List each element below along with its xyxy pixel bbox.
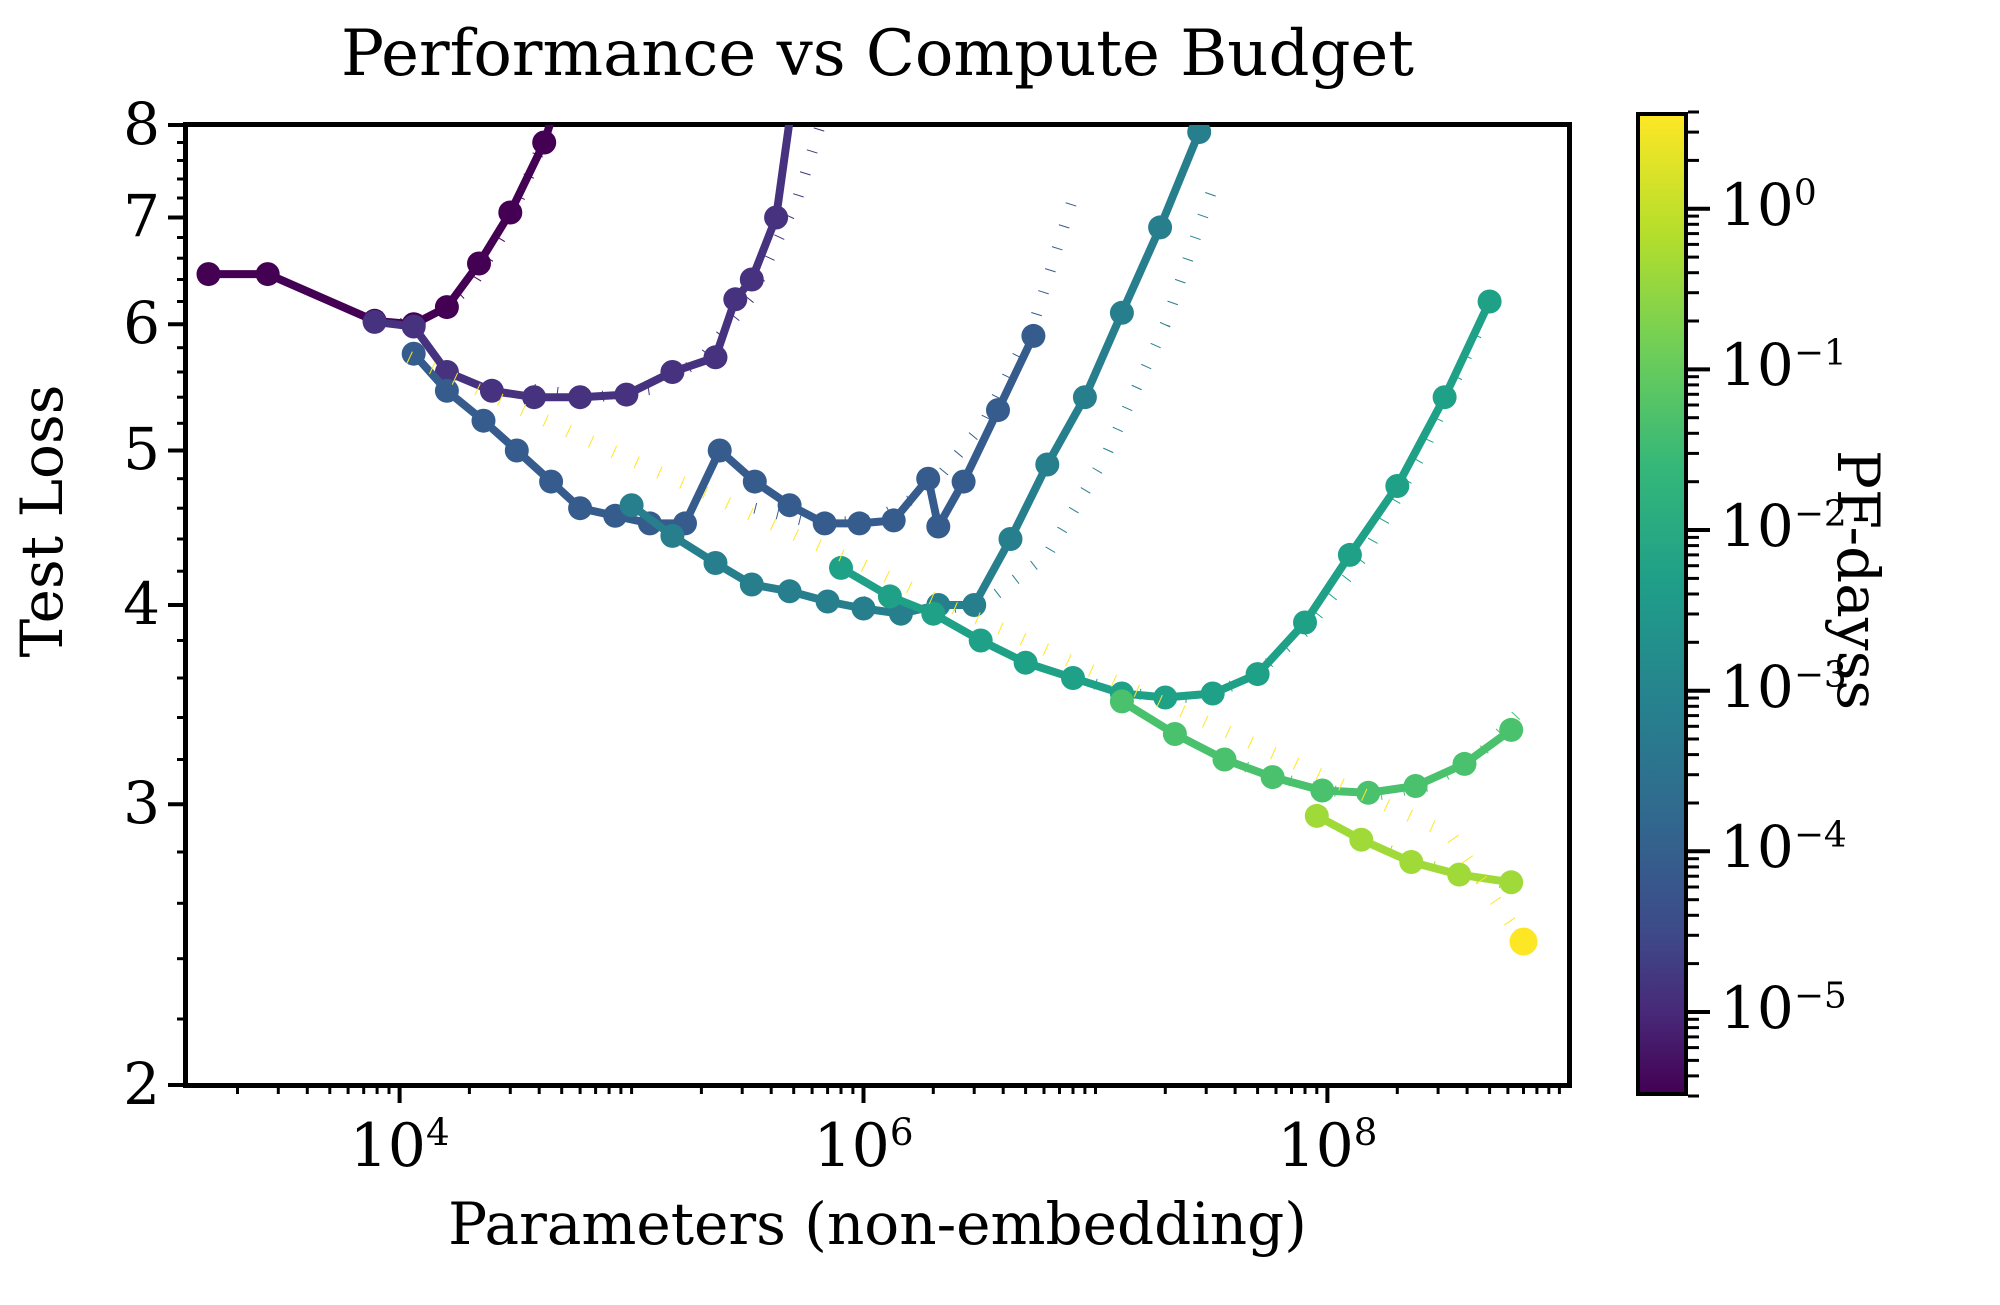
data-point-marker [778, 493, 802, 517]
data-point-marker [1014, 651, 1038, 675]
series-line-budget-1-fit [377, 0, 606, 324]
data-point-marker [1293, 611, 1317, 635]
data-point-marker [660, 524, 684, 548]
data-point-marker [522, 385, 546, 409]
data-point-marker [568, 496, 592, 520]
data-point-marker [1478, 290, 1502, 314]
x-tick-label: 108 [1237, 1111, 1417, 1181]
y-tick-label: 3 [123, 769, 160, 837]
data-point-marker [1163, 722, 1187, 746]
data-point-marker [1499, 718, 1523, 742]
y-tick-label: 6 [123, 289, 160, 357]
data-point-marker [660, 360, 684, 384]
chart-figure: Performance vs Compute Budget 8765432 10… [0, 0, 2000, 1305]
y-tick-label: 4 [123, 570, 160, 638]
y-tick-label: 2 [123, 1050, 160, 1118]
data-point-marker [1223, 16, 1247, 40]
data-point-marker [882, 508, 906, 532]
data-point-marker [952, 470, 976, 494]
data-point-marker [1035, 453, 1059, 477]
x-tick-label: 104 [310, 1111, 490, 1181]
data-point-marker [782, 79, 806, 103]
data-point-marker [829, 556, 853, 580]
data-point-marker [472, 409, 496, 433]
data-point-marker [435, 295, 459, 319]
data-point-marker [1510, 928, 1538, 956]
series-line-budget-4-fit [864, 179, 1216, 612]
data-point-marker [256, 262, 280, 286]
data-point-marker [363, 310, 387, 334]
data-point-marker [1021, 324, 1045, 348]
data-point-marker [1261, 765, 1285, 789]
data-point-marker [969, 629, 993, 653]
data-point-marker [1148, 215, 1172, 239]
colorbar-label: PF-dayss [1824, 300, 1892, 860]
y-axis-label: Test Loss [8, 241, 76, 801]
data-point-marker [1153, 686, 1177, 710]
data-point-marker [1447, 863, 1471, 887]
data-point-marker [620, 493, 644, 517]
data-point-marker [435, 379, 459, 403]
data-point-marker [743, 470, 767, 494]
colorbar-tick-label: 100 [1720, 171, 1817, 239]
data-point-marker [1499, 870, 1523, 894]
data-point-marker [505, 439, 529, 463]
data-point-marker [813, 511, 837, 535]
data-point-marker [402, 315, 426, 339]
series-line-budget-2 [375, 91, 794, 397]
data-point-marker [704, 345, 728, 369]
data-point-marker [1399, 850, 1423, 874]
envelope-line [409, 357, 1523, 941]
data-point-marker [1187, 120, 1211, 144]
data-point-marker [532, 131, 556, 155]
data-point-marker [1338, 543, 1362, 567]
data-point-marker [916, 467, 940, 491]
data-point-marker [878, 584, 902, 608]
data-point-marker [197, 262, 221, 286]
data-point-marker [1073, 385, 1097, 409]
data-point-marker [740, 573, 764, 597]
data-point-marker [999, 527, 1023, 551]
x-tick-label: 106 [774, 1111, 954, 1181]
data-point-marker [926, 515, 950, 539]
series-line-budget-5-fit [1073, 324, 1481, 697]
data-point-marker [568, 16, 592, 40]
data-point-marker [1453, 752, 1477, 776]
data-point-marker [402, 342, 426, 366]
data-point-marker [1356, 781, 1380, 805]
data-point-marker [704, 551, 728, 575]
x-axis-label: Parameters (non-embedding) [183, 1190, 1572, 1258]
series-line-budget-2-fit [534, 59, 841, 397]
data-point-marker [1404, 774, 1428, 798]
data-point-marker [816, 590, 840, 614]
data-point-marker [1201, 682, 1225, 706]
data-point-marker [1385, 474, 1409, 498]
data-point-marker [723, 287, 747, 311]
data-point-marker [962, 593, 986, 617]
y-tick-label: 5 [123, 415, 160, 483]
colorbar-tick-label: 10−5 [1720, 974, 1847, 1042]
data-point-marker [852, 597, 876, 621]
y-tick-label: 8 [123, 90, 160, 158]
colorbar [1636, 112, 1688, 1096]
data-point-marker [708, 439, 732, 463]
plot-canvas [0, 0, 2000, 1305]
data-point-marker [1110, 301, 1134, 325]
data-point-marker [764, 206, 788, 230]
data-point-marker [986, 398, 1010, 422]
data-point-marker [778, 579, 802, 603]
data-point-marker [847, 511, 871, 535]
data-point-marker [498, 201, 522, 225]
data-point-marker [921, 602, 945, 626]
data-point-marker [1305, 804, 1329, 828]
data-point-marker [539, 470, 563, 494]
y-tick-label: 7 [123, 182, 160, 250]
data-point-marker [467, 252, 491, 276]
data-point-marker [1110, 689, 1134, 713]
